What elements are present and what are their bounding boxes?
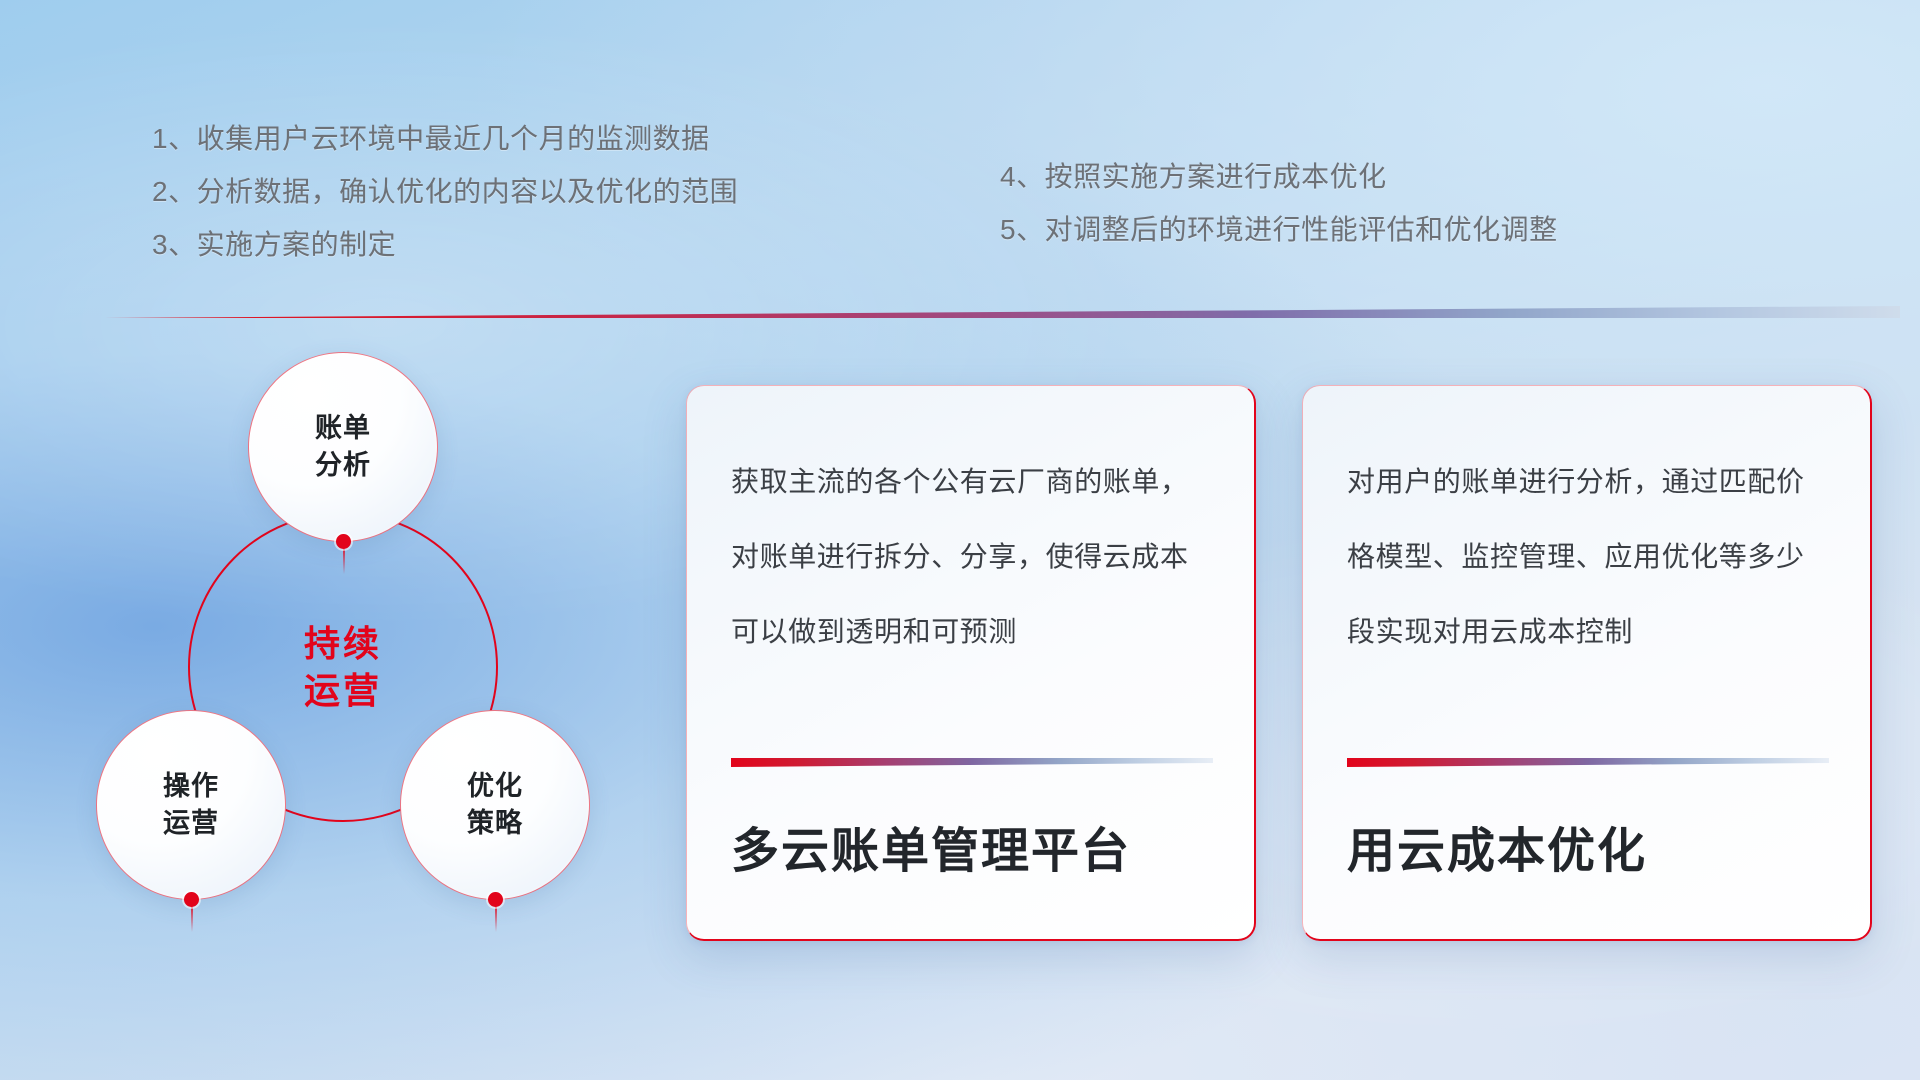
node-top-line-2: 分析 — [315, 447, 371, 484]
node-right-connector — [495, 906, 497, 932]
center-label-line-2: 运营 — [304, 667, 382, 714]
node-right-line-2: 策略 — [467, 805, 523, 842]
card-1-body: 获取主流的各个公有云厂商的账单，对账单进行拆分、分享，使得云成本可以做到透明和可… — [731, 444, 1210, 744]
diagram-node-optimization-strategy[interactable]: 优化 策略 — [400, 710, 590, 900]
card-1-rule — [731, 758, 1213, 767]
steps-right-column: 4、按照实施方案进行成本优化 5、对调整后的环境进行性能评估和优化调整 — [1000, 150, 1558, 256]
step-item-4: 4、按照实施方案进行成本优化 — [1000, 150, 1558, 203]
card-2-body: 对用户的账单进行分析，通过匹配价格模型、监控管理、应用优化等多少段实现对用云成本… — [1347, 444, 1826, 744]
node-left-connector — [191, 906, 193, 932]
feature-card-multicloud-billing[interactable]: 获取主流的各个公有云厂商的账单，对账单进行拆分、分享，使得云成本可以做到透明和可… — [686, 385, 1256, 941]
diagram-node-bill-analysis[interactable]: 账单 分析 — [248, 352, 438, 542]
node-left-line-1: 操作 — [163, 768, 219, 805]
card-2-title: 用云成本优化 — [1347, 821, 1647, 883]
card-1-title: 多云账单管理平台 — [731, 821, 1131, 883]
feature-card-cloud-cost-optimization[interactable]: 对用户的账单进行分析，通过匹配价格模型、监控管理、应用优化等多少段实现对用云成本… — [1302, 385, 1872, 941]
card-2-rule — [1347, 758, 1829, 767]
node-top-line-1: 账单 — [315, 410, 371, 447]
step-item-2: 2、分析数据，确认优化的内容以及优化的范围 — [152, 165, 738, 218]
step-item-3: 3、实施方案的制定 — [152, 218, 738, 271]
steps-left-column: 1、收集用户云环境中最近几个月的监测数据 2、分析数据，确认优化的内容以及优化的… — [152, 112, 738, 271]
node-right-marker-dot — [488, 892, 503, 907]
node-left-marker-dot — [184, 892, 199, 907]
diagram-node-operation[interactable]: 操作 运营 — [96, 710, 286, 900]
steps-section: 1、收集用户云环境中最近几个月的监测数据 2、分析数据，确认优化的内容以及优化的… — [0, 0, 1920, 300]
node-left-line-2: 运营 — [163, 805, 219, 842]
node-top-marker-dot — [336, 534, 351, 549]
step-item-5: 5、对调整后的环境进行性能评估和优化调整 — [1000, 203, 1558, 256]
center-label-line-1: 持续 — [304, 620, 382, 667]
node-right-line-1: 优化 — [467, 768, 523, 805]
step-item-1: 1、收集用户云环境中最近几个月的监测数据 — [152, 112, 738, 165]
continuous-operation-diagram: 持续 运营 账单 分析 操作 运营 优化 策略 — [96, 352, 626, 932]
node-top-connector — [343, 548, 345, 574]
